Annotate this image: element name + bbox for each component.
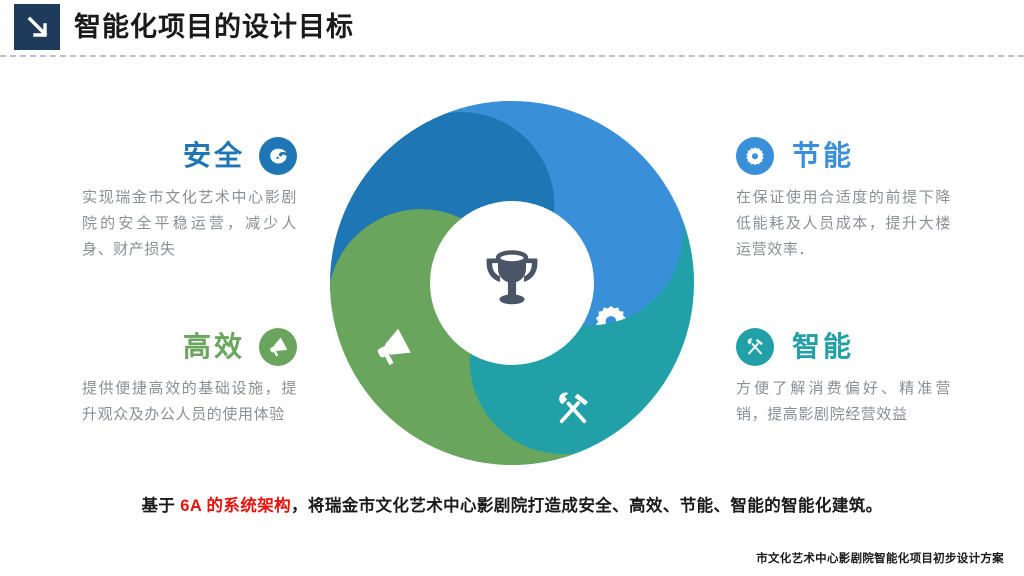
section-efficiency-head: 高效 [82, 325, 297, 369]
header-badge [14, 4, 60, 50]
section-energy-head: 节能 [736, 134, 951, 178]
footer-text: 市文化艺术中心影剧院智能化项目初步设计方案 [756, 550, 1004, 566]
section-efficiency-body: 提供便捷高效的基础设施，提升观众及办公人员的使用体验 [82, 376, 297, 428]
gear-icon [744, 145, 766, 167]
header-divider [0, 55, 1024, 57]
section-smart: 智能 方便了解消费偏好、精准营销，提高影剧院经营效益 [736, 325, 951, 428]
section-efficiency-title: 高效 [183, 330, 245, 364]
section-energy-body: 在保证使用合适度的前提下降低能耗及人员成本，提升大楼运营效率． [736, 185, 951, 263]
section-safety-head: 安全 [82, 134, 297, 178]
smart-badge [736, 328, 774, 366]
caption-highlight: 6A 的系统架构 [180, 497, 291, 515]
energy-badge [736, 137, 774, 175]
efficiency-badge [259, 328, 297, 366]
section-efficiency: 高效 提供便捷高效的基础设施，提升观众及办公人员的使用体验 [82, 325, 297, 428]
arrow-down-right-icon [14, 4, 60, 50]
section-energy-title: 节能 [792, 139, 854, 173]
hammer-wrench-icon [744, 336, 766, 358]
section-safety-body: 实现瑞金市文化艺术中心影剧院的安全平稳运营，减少人身、财产损失 [82, 185, 297, 263]
page-title: 智能化项目的设计目标 [74, 6, 354, 48]
eye-icon [267, 145, 290, 168]
section-smart-title: 智能 [792, 330, 854, 364]
section-smart-head: 智能 [736, 325, 951, 369]
section-energy: 节能 在保证使用合适度的前提下降低能耗及人员成本，提升大楼运营效率． [736, 134, 951, 263]
section-smart-body: 方便了解消费偏好、精准营销，提高影剧院经营效益 [736, 376, 951, 428]
section-safety: 安全 实现瑞金市文化艺术中心影剧院的安全平稳运营，减少人身、财产损失 [82, 134, 297, 263]
caption-prefix: 基于 [141, 497, 175, 515]
section-safety-title: 安全 [183, 139, 245, 173]
megaphone-icon [267, 336, 289, 358]
page-header: 智能化项目的设计目标 [0, 0, 1024, 52]
safety-badge [259, 137, 297, 175]
caption: 基于 6A 的系统架构，将瑞金市文化艺术中心影剧院打造成安全、高效、节能、智能的… [0, 492, 1024, 516]
pinwheel-diagram [317, 88, 707, 478]
caption-suffix: ，将瑞金市文化艺术中心影剧院打造成安全、高效、节能、智能的智能化建筑。 [291, 497, 883, 515]
